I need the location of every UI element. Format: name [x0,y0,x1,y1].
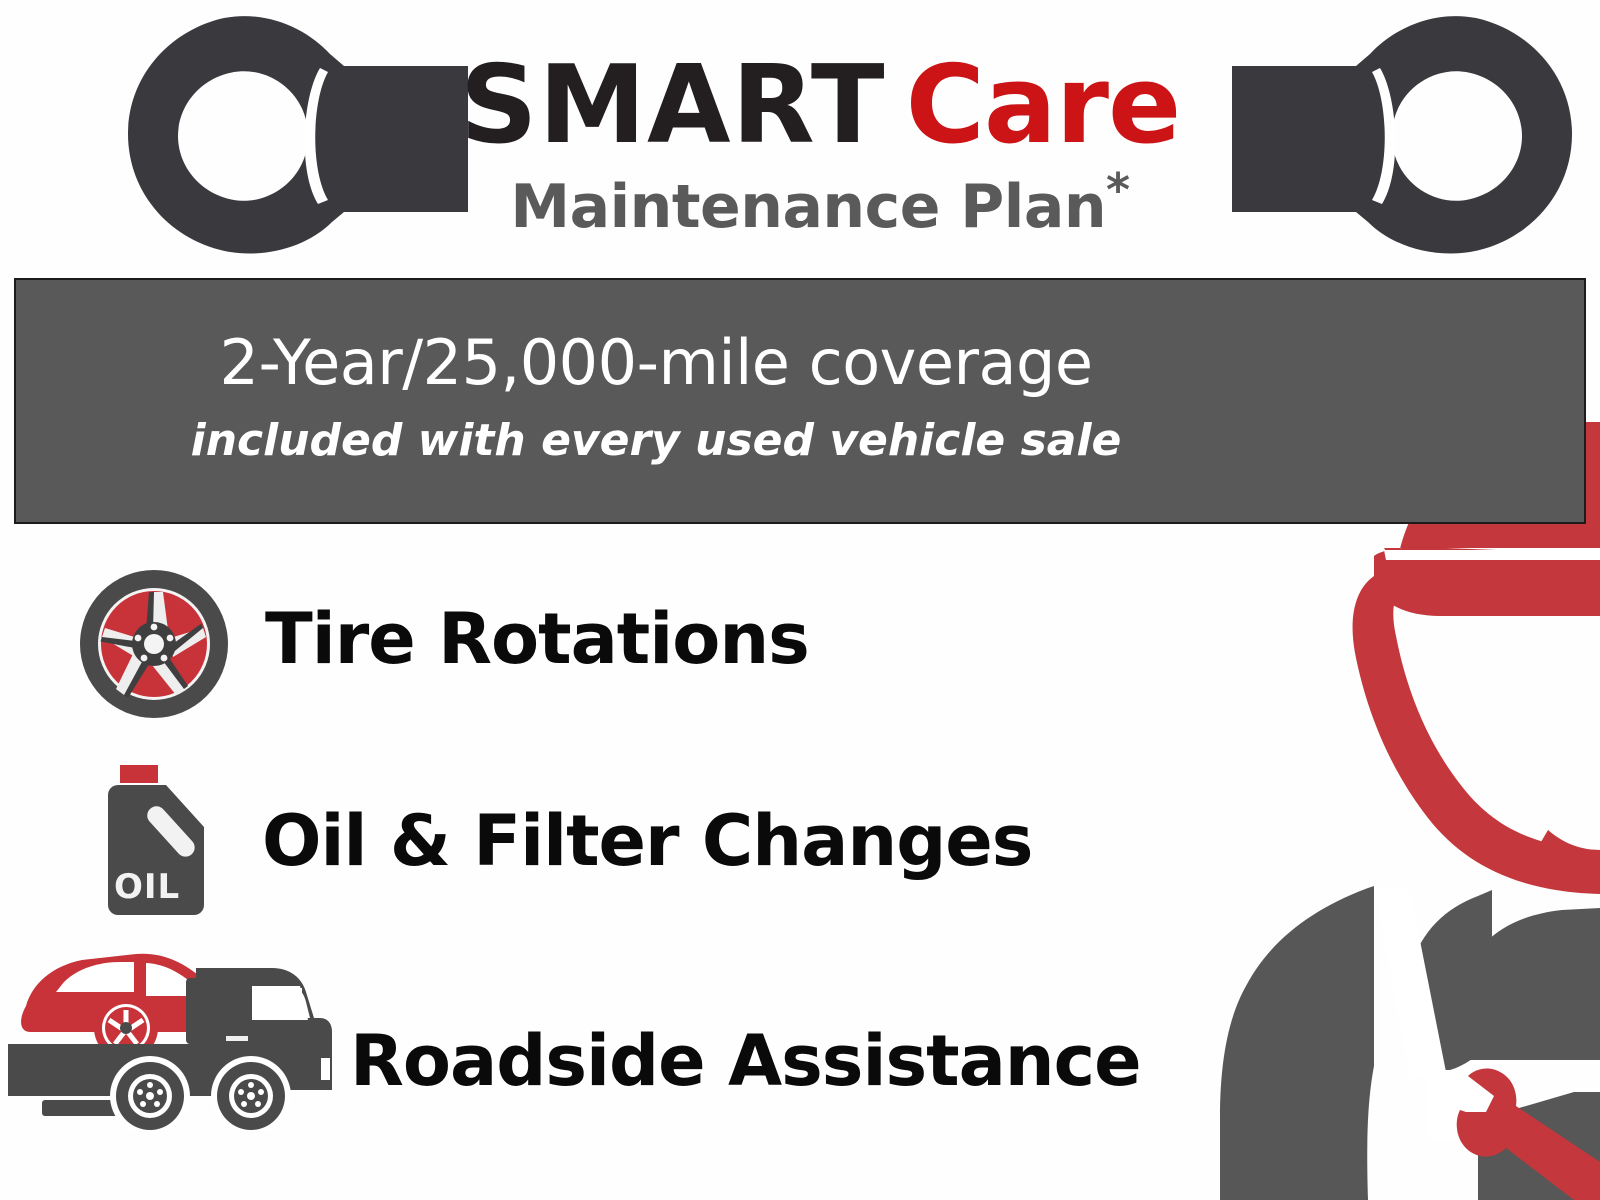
service-item: OIL Oil & Filter Changes [0,745,1180,950]
brand-title: SMARTCare [400,52,1240,160]
services-list: Tire Rotations OIL Oil & Filter Changes [0,540,1180,1155]
tire-icon [78,568,230,720]
brand-subtitle-text: Maintenance Plan [510,172,1106,242]
brand-word-smart: SMART [460,43,886,168]
smart-care-promo-graphic: SMARTCare Maintenance Plan* 2-Year/25,00… [0,0,1600,1200]
service-label: Tire Rotations [265,598,809,680]
svg-text:OIL: OIL [114,867,180,907]
coverage-banner-text: 2-Year/25,000-mile coverage included wit… [16,326,1296,466]
coverage-headline: 2-Year/25,000-mile coverage [16,326,1296,399]
coverage-banner: 2-Year/25,000-mile coverage included wit… [14,278,1586,524]
coverage-subline: included with every used vehicle sale [16,415,1296,466]
footnote-asterisk: * [1106,163,1130,217]
brand-lockup: SMARTCare Maintenance Plan* [400,52,1240,242]
header-logo-area: SMARTCare Maintenance Plan* [0,0,1600,278]
mechanic-illustration [1178,420,1600,1200]
wrench-icon [1228,6,1588,268]
service-label: Roadside Assistance [350,1020,1141,1102]
service-item: Tire Rotations [0,540,1180,745]
tow-truck-icon [8,940,338,1130]
service-item: Roadside Assistance [0,950,1180,1155]
service-label: Oil & Filter Changes [262,800,1032,882]
brand-word-care: Care [906,43,1181,168]
brand-subtitle: Maintenance Plan* [400,172,1240,242]
oil-bottle-icon: OIL [100,765,210,915]
